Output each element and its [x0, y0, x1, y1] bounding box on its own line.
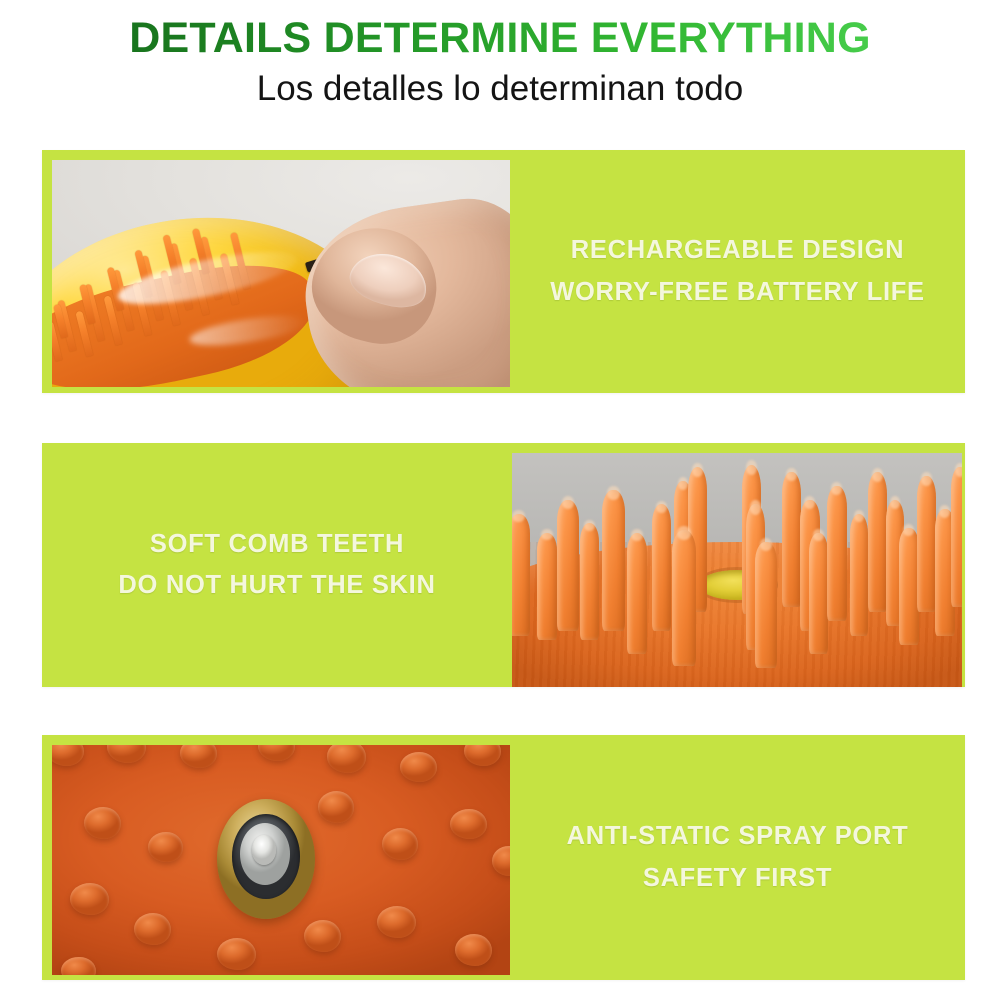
caption-line-2: DO NOT HURT THE SKIN: [118, 565, 435, 606]
feature-caption-soft-comb-teeth: SOFT COMB TEETH DO NOT HURT THE SKIN: [42, 443, 512, 687]
feature-caption-rechargeable-design: RECHARGEABLE DESIGN WORRY-FREE BATTERY L…: [510, 150, 965, 393]
feature-caption-anti-static-spray-port: ANTI-STATIC SPRAY PORT SAFETY FIRST: [510, 735, 965, 980]
caption-line-1: RECHARGEABLE DESIGN: [571, 230, 905, 271]
feature-panel-rechargeable-design: RECHARGEABLE DESIGN WORRY-FREE BATTERY L…: [42, 150, 965, 393]
caption-line-1: SOFT COMB TEETH: [150, 524, 404, 565]
feature-panel-soft-comb-teeth: SOFT COMB TEETH DO NOT HURT THE SKIN: [42, 443, 965, 687]
feature-photo-rechargeable-design: [52, 160, 510, 387]
spray-port-nozzle: [252, 835, 277, 865]
caption-line-2: WORRY-FREE BATTERY LIFE: [550, 272, 925, 313]
feature-photo-anti-static-spray-port: [52, 745, 510, 975]
feature-photo-soft-comb-teeth: [512, 453, 962, 687]
header: DETAILS DETERMINE EVERYTHING Los detalle…: [0, 0, 1000, 109]
page-title: DETAILS DETERMINE EVERYTHING: [0, 16, 1000, 61]
feature-panel-anti-static-spray-port: ANTI-STATIC SPRAY PORT SAFETY FIRST: [42, 735, 965, 980]
page-subtitle: Los detalles lo determinan todo: [0, 70, 1000, 109]
caption-line-1: ANTI-STATIC SPRAY PORT: [567, 816, 909, 857]
caption-line-2: SAFETY FIRST: [643, 858, 832, 899]
